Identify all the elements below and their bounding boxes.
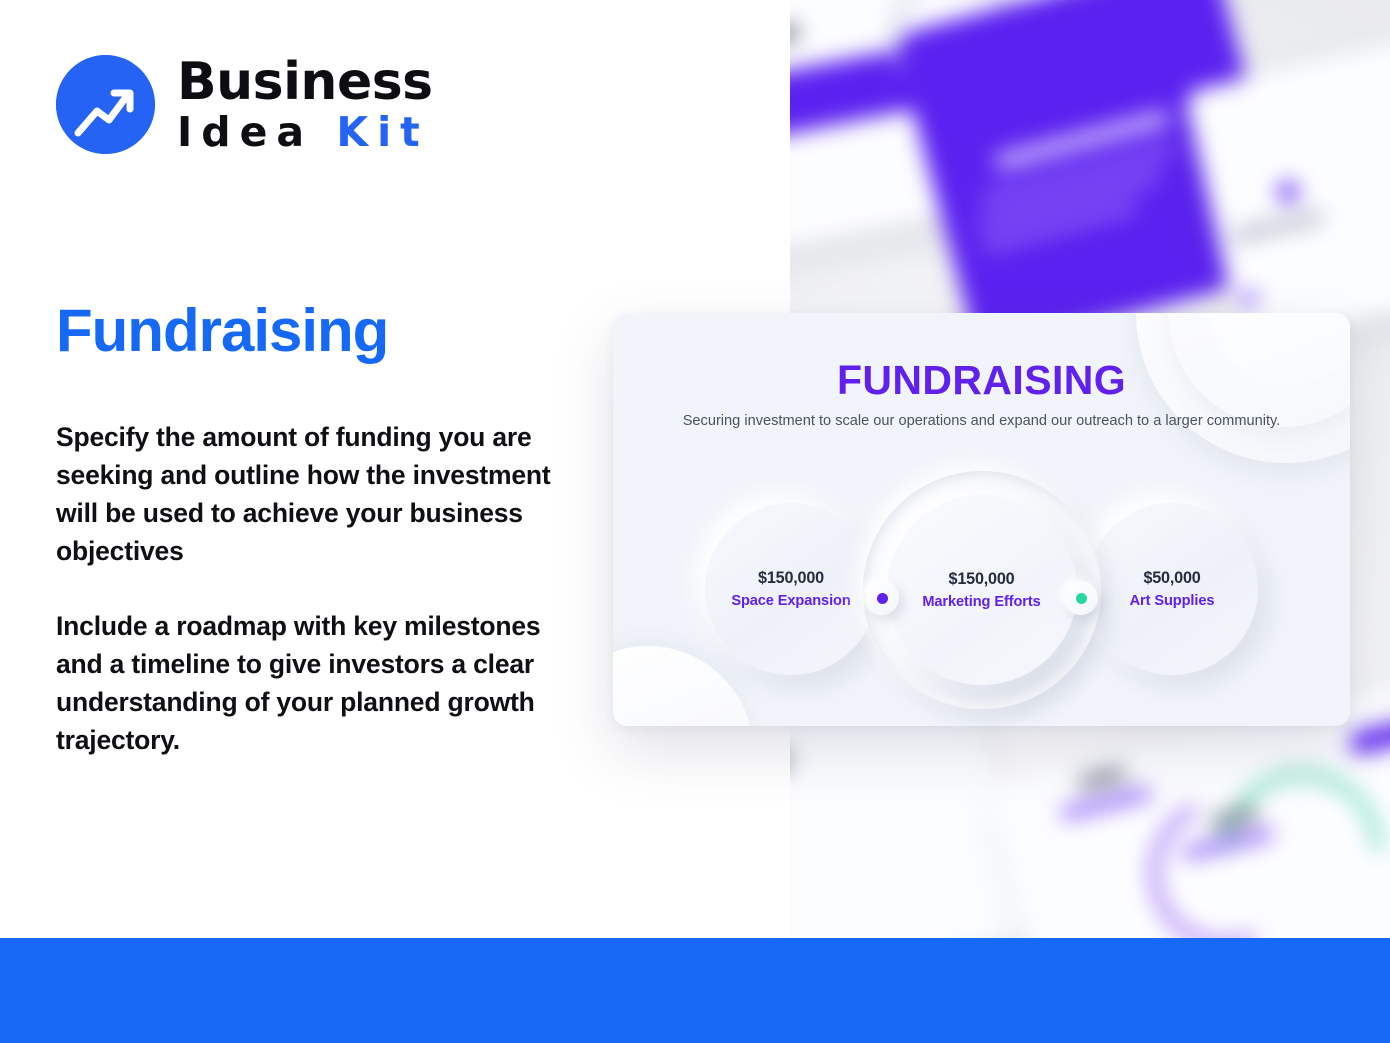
funding-amount: $150,000 — [758, 569, 824, 588]
brand-name-kit: Kit — [336, 108, 428, 156]
funding-label: Space Expansion — [731, 593, 850, 609]
paragraph-1: Specify the amount of funding you are se… — [56, 418, 576, 571]
bg-slide-3-dot — [1278, 182, 1298, 202]
green-dot-icon — [1076, 593, 1087, 604]
card-title: FUNDRAISING — [613, 357, 1350, 404]
funding-item-art-supplies[interactable]: $50,000 Art Supplies — [1086, 503, 1258, 675]
footer-bar — [0, 938, 1390, 1043]
brand-name-line1: Business — [177, 56, 433, 108]
fundraising-preview-card[interactable]: FUNDRAISING Securing investment to scale… — [613, 313, 1350, 726]
card-subtitle: Securing investment to scale our operati… — [613, 411, 1350, 433]
body-copy: Specify the amount of funding you are se… — [56, 418, 576, 759]
brand-name-line2: Idea Kit — [177, 112, 433, 153]
funding-label: Art Supplies — [1130, 593, 1215, 609]
brand-name-idea: Idea — [177, 108, 313, 156]
brand-logo[interactable]: Business Idea Kit — [56, 55, 433, 154]
page-title: Fundraising — [56, 296, 388, 365]
connector-node-left — [865, 581, 899, 615]
connector-node-right — [1064, 581, 1098, 615]
brand-wordmark: Business Idea Kit — [177, 56, 433, 153]
slide-page: Business Idea Kit Fundraising Specify th… — [0, 0, 1390, 1043]
bg-slide-3-dot-2 — [1242, 292, 1256, 306]
funding-amount: $150,000 — [949, 570, 1015, 589]
funding-breakdown-chart: $150,000 Space Expansion $50,000 Art Sup… — [613, 481, 1350, 711]
funding-amount: $50,000 — [1143, 569, 1200, 588]
purple-dot-icon — [877, 593, 888, 604]
funding-label: Marketing Efforts — [922, 594, 1040, 610]
funding-item-space-expansion[interactable]: $150,000 Space Expansion — [705, 503, 877, 675]
paragraph-2: Include a roadmap with key milestones an… — [56, 607, 576, 760]
funding-item-marketing-efforts[interactable]: $150,000 Marketing Efforts — [887, 495, 1077, 685]
growth-arrow-chart-icon — [56, 55, 155, 154]
